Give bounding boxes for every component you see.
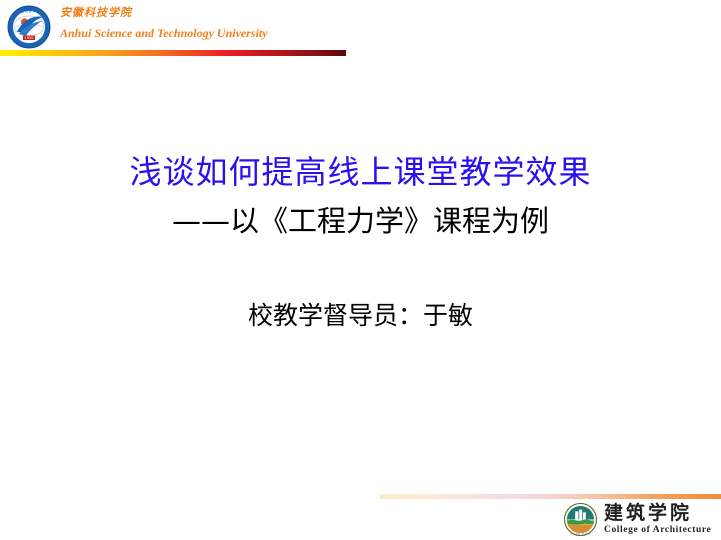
college-seal-icon: COLLEGE OF ARCH (564, 503, 597, 536)
svg-text:安徽科技学院: 安徽科技学院 (17, 10, 40, 14)
presenter-name: 校教学督导员：于敏 (0, 298, 721, 334)
slide-title-block: 浅谈如何提高线上课堂教学效果 ——以《工程力学》课程为例 (0, 150, 721, 242)
college-name-cn: 建筑学院 (604, 503, 716, 525)
footer-gradient-rule (380, 494, 721, 499)
university-name-cn: 安徽科技学院 (60, 6, 360, 21)
page-title: 浅谈如何提高线上课堂教学效果 (0, 150, 721, 194)
svg-text:ANHUI SCI-TECH: ANHUI SCI-TECH (18, 44, 39, 47)
presentation-slide: 1950 安徽科技学院 ANHUI SCI-TECH 安徽科技学院 Anhui … (0, 0, 721, 540)
page-subtitle: ——以《工程力学》课程为例 (0, 200, 721, 242)
svg-text:COLLEGE OF ARCH: COLLEGE OF ARCH (570, 532, 591, 535)
university-seal-icon: 1950 安徽科技学院 ANHUI SCI-TECH (7, 5, 51, 49)
college-logo-group: COLLEGE OF ARCH 建筑学院 College of Architec… (564, 503, 716, 537)
university-name-en: Anhui Science and Technology University (60, 25, 360, 42)
svg-text:1950: 1950 (24, 36, 34, 40)
university-wordmark: 安徽科技学院 Anhui Science and Technology Univ… (60, 6, 360, 42)
college-name-en: College of Architecture (604, 525, 716, 536)
slide-header: 1950 安徽科技学院 ANHUI SCI-TECH 安徽科技学院 Anhui … (0, 0, 721, 62)
presenter-block: 校教学督导员：于敏 (0, 298, 721, 334)
college-wordmark: 建筑学院 College of Architecture (604, 503, 716, 537)
header-gradient-rule (0, 50, 346, 56)
